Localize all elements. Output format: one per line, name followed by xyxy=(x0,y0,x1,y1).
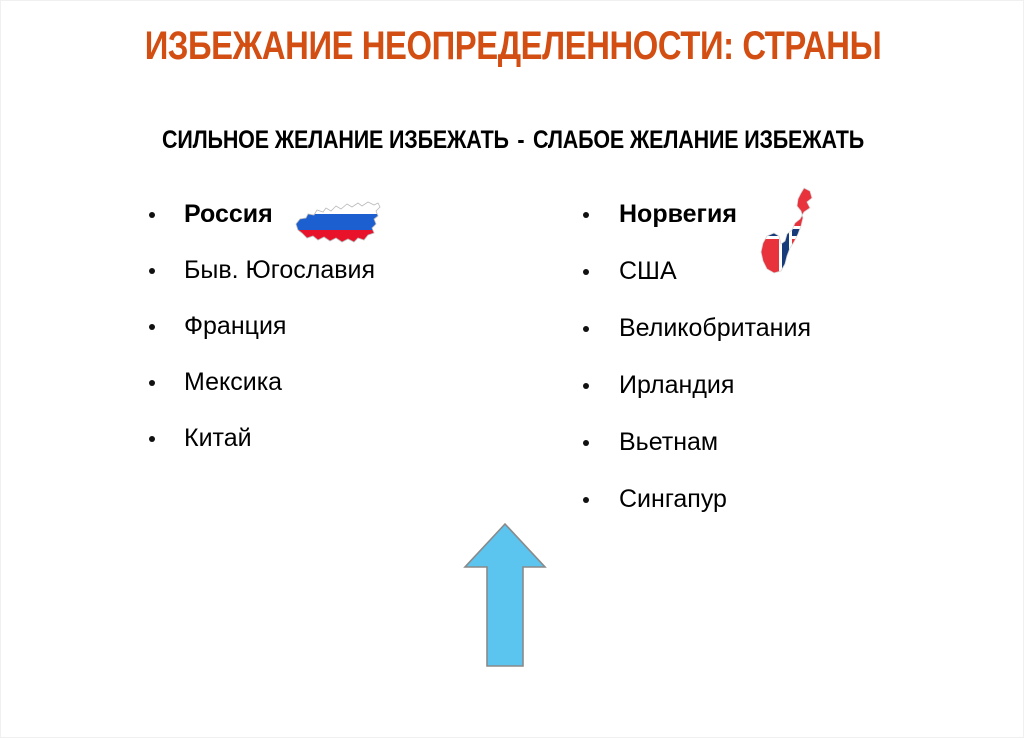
list-item: Китай xyxy=(149,423,529,479)
country-label: Китай xyxy=(184,423,252,453)
list-item: Сингапур xyxy=(583,484,983,541)
list-item: Норвегия xyxy=(583,199,983,256)
bullet-icon xyxy=(583,212,589,218)
bullet-icon xyxy=(583,383,589,389)
subtitle-left: СИЛЬНОЕ ЖЕЛАНИЕ ИЗБЕЖАТЬ xyxy=(162,126,509,154)
bullet-icon xyxy=(149,324,155,330)
country-label: Вьетнам xyxy=(619,427,718,457)
list-item: Мексика xyxy=(149,367,529,423)
country-label: Сингапур xyxy=(619,484,727,514)
bullet-icon xyxy=(583,269,589,275)
bullet-icon xyxy=(149,268,155,274)
country-list-strong-avoidance: Россия Быв. Югославия Фра xyxy=(149,199,529,479)
bullet-icon xyxy=(583,440,589,446)
list-item: Ирландия xyxy=(583,370,983,427)
list-item: Россия xyxy=(149,199,529,255)
country-label: Россия xyxy=(184,199,273,229)
country-label: США xyxy=(619,256,677,286)
subtitle-right: СЛАБОЕ ЖЕЛАНИЕ ИЗБЕЖАТЬ xyxy=(533,126,864,154)
bullet-icon xyxy=(149,380,155,386)
list-item: Великобритания xyxy=(583,313,983,370)
list-item: США xyxy=(583,256,983,313)
country-label: Норвегия xyxy=(619,199,737,229)
subtitle-row: СИЛЬНОЕ ЖЕЛАНИЕ ИЗБЕЖАТЬ-СЛАБОЕ ЖЕЛАНИЕ … xyxy=(73,125,954,155)
bullet-icon xyxy=(149,212,155,218)
country-label: Франция xyxy=(184,311,286,341)
list-item: Быв. Югославия xyxy=(149,255,529,311)
page-title: ИЗБЕЖАНИЕ НЕОПРЕДЕЛЕННОСТИ: СТРАНЫ xyxy=(93,23,933,69)
bullet-icon xyxy=(583,497,589,503)
country-label: Мексика xyxy=(184,367,282,397)
russia-flag-map-icon xyxy=(290,197,382,247)
arrow-up-icon xyxy=(463,522,547,668)
country-list-weak-avoidance: Норвегия США xyxy=(583,199,983,541)
bullet-icon xyxy=(583,326,589,332)
list-item: Вьетнам xyxy=(583,427,983,484)
subtitle-separator: - xyxy=(509,126,533,154)
country-label: Великобритания xyxy=(619,313,811,343)
bullet-icon xyxy=(149,436,155,442)
list-item: Франция xyxy=(149,311,529,367)
country-label: Ирландия xyxy=(619,370,734,400)
slide-canvas: ИЗБЕЖАНИЕ НЕОПРЕДЕЛЕННОСТИ: СТРАНЫ СИЛЬН… xyxy=(0,0,1024,738)
country-label: Быв. Югославия xyxy=(184,255,375,285)
